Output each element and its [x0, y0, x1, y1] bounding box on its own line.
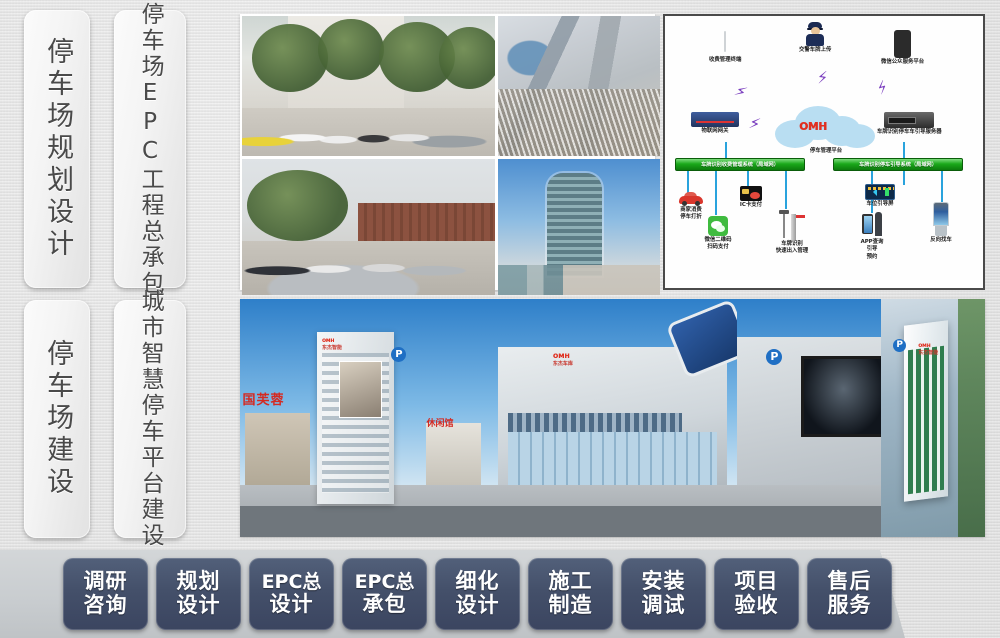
- road: [488, 506, 736, 537]
- process-step-acceptance[interactable]: 项目验收: [714, 558, 799, 630]
- app-user-icon: [862, 212, 882, 238]
- service-card-label: 城市智慧停车平台建设: [138, 289, 162, 549]
- item-wechat-qr-pay: 微信二维码扫码支付: [697, 216, 739, 252]
- process-step-epc-design[interactable]: EPC总设计: [249, 558, 334, 630]
- process-step-planning[interactable]: 规划设计: [156, 558, 241, 630]
- service-card-planning-design[interactable]: 停车场规划设计: [24, 10, 90, 288]
- brand-logo: ᴏᴍʜ 东杰智能: [918, 342, 938, 356]
- process-step-install[interactable]: 安装调试: [621, 558, 706, 630]
- photo-brick-lot: [242, 159, 495, 295]
- kiosk-icon: [933, 202, 949, 236]
- process-step-epc-general[interactable]: EPC总承包: [342, 558, 427, 630]
- node-guide-server: 车牌识别停车车引导服务器: [877, 112, 942, 136]
- node-iot-gateway: 物联网网关: [691, 112, 739, 135]
- smartphone-icon: [894, 30, 911, 58]
- process-step-detail[interactable]: 细化设计: [435, 558, 520, 630]
- ic-card-icon: [740, 186, 762, 201]
- landscaping: [958, 299, 985, 537]
- neighbor-sign-right: 休闲馆: [427, 416, 454, 429]
- omh-logo: ᴏᴍʜ: [799, 118, 827, 134]
- lightning-icon: ⚡: [747, 115, 761, 133]
- service-card-construction[interactable]: 停车场建设: [24, 300, 90, 538]
- service-card-smart-platform[interactable]: 城市智慧停车平台建设: [114, 300, 186, 538]
- adjacent-building-right: [426, 423, 481, 485]
- barrier-gate-icon: [779, 210, 805, 240]
- item-ic-card-pay: IC卡支付: [735, 186, 767, 209]
- router-icon: [691, 112, 739, 127]
- photo-collage: [240, 14, 655, 290]
- brand-logo: ᴏᴍʜ 东杰车库: [553, 351, 573, 367]
- node-charge-terminal: 收费管理终端: [709, 32, 741, 64]
- service-card-label: 停车场规划设计: [43, 37, 71, 261]
- subsystem-title-charge: 车牌识别收费管理系统（局域网）: [675, 158, 805, 171]
- car-icon: [679, 192, 703, 206]
- rendering-gallery: ᴏᴍʜ 东杰智能 P 国芙蓉 休闲馆 ᴏᴍʜ 东杰车库 P P ᴏᴍʜ: [240, 299, 985, 537]
- wechat-icon: [708, 216, 728, 236]
- parking-badge: P: [391, 347, 406, 362]
- rendering-aerial: P P ᴏᴍʜ 东杰智能: [737, 299, 985, 537]
- item-find-car-kiosk: 反向找车: [923, 202, 959, 244]
- process-steps: 调研咨询 规划设计 EPC总设计 EPC总承包 细化设计 施工制造 安装调试 项…: [63, 558, 983, 630]
- rendering-garage: ᴏᴍʜ 东杰车库: [488, 299, 736, 537]
- cloud-platform-icon: ᴏᴍʜ: [773, 104, 879, 148]
- rendering-tower: ᴏᴍʜ 东杰智能 P 国芙蓉 休闲馆: [240, 299, 488, 537]
- connector-line: [725, 142, 727, 158]
- photo-street-parking: [242, 16, 495, 156]
- adjacent-building-left: [245, 413, 310, 484]
- process-step-research[interactable]: 调研咨询: [63, 558, 148, 630]
- photo-aerial-parking: [498, 16, 660, 156]
- service-card-label: 停车场建设: [43, 339, 71, 499]
- lightning-icon: ⚡: [816, 70, 829, 87]
- system-architecture-diagram: ᴏᴍʜ 停车管理平台 ⚡ ⚡ ⚡ ⚡ 收费管理终端 交警车牌上传 微信公众服务平…: [663, 14, 985, 290]
- lightning-icon: ⚡: [874, 78, 892, 97]
- road: [240, 506, 488, 537]
- guidance-screen-icon: [865, 184, 895, 200]
- server-icon: [884, 112, 934, 128]
- process-step-manufacture[interactable]: 施工制造: [528, 558, 613, 630]
- service-card-label: 停车场EPC工程总承包: [138, 2, 162, 297]
- item-anpr-gate: 车牌识别快速出入管理: [769, 210, 815, 256]
- aerial-view: P ᴏᴍʜ 东杰智能: [881, 299, 985, 537]
- service-card-epc-contracting[interactable]: 停车场EPC工程总承包: [114, 10, 186, 288]
- subsystem-title-guidance: 车牌识别停车引导系统（局域网）: [833, 158, 963, 171]
- police-officer-icon: [805, 22, 825, 46]
- node-traffic-police: 交警车牌上传: [799, 22, 831, 54]
- process-step-after-sales[interactable]: 售后服务: [807, 558, 892, 630]
- parking-tower: [317, 332, 394, 503]
- node-wechat-platform: 微信公众服务平台: [881, 30, 924, 66]
- led-display: [801, 356, 885, 437]
- cloud-platform-label: 停车管理平台: [783, 148, 869, 155]
- connector-line: [903, 142, 905, 158]
- item-app-reserve: APP查询引导预约: [851, 212, 893, 261]
- monitor-icon: [710, 32, 740, 56]
- neighbor-sign-left: 国芙蓉: [242, 389, 284, 408]
- photo-glass-tower: [498, 159, 660, 295]
- lightning-icon: ⚡: [732, 82, 749, 101]
- facade-billboard: [339, 361, 381, 418]
- ground-floor-glazing: [508, 432, 717, 484]
- brand-logo: ᴏᴍʜ 东杰智能: [322, 337, 342, 351]
- item-space-guide-screen: 车位引导屏: [859, 184, 901, 208]
